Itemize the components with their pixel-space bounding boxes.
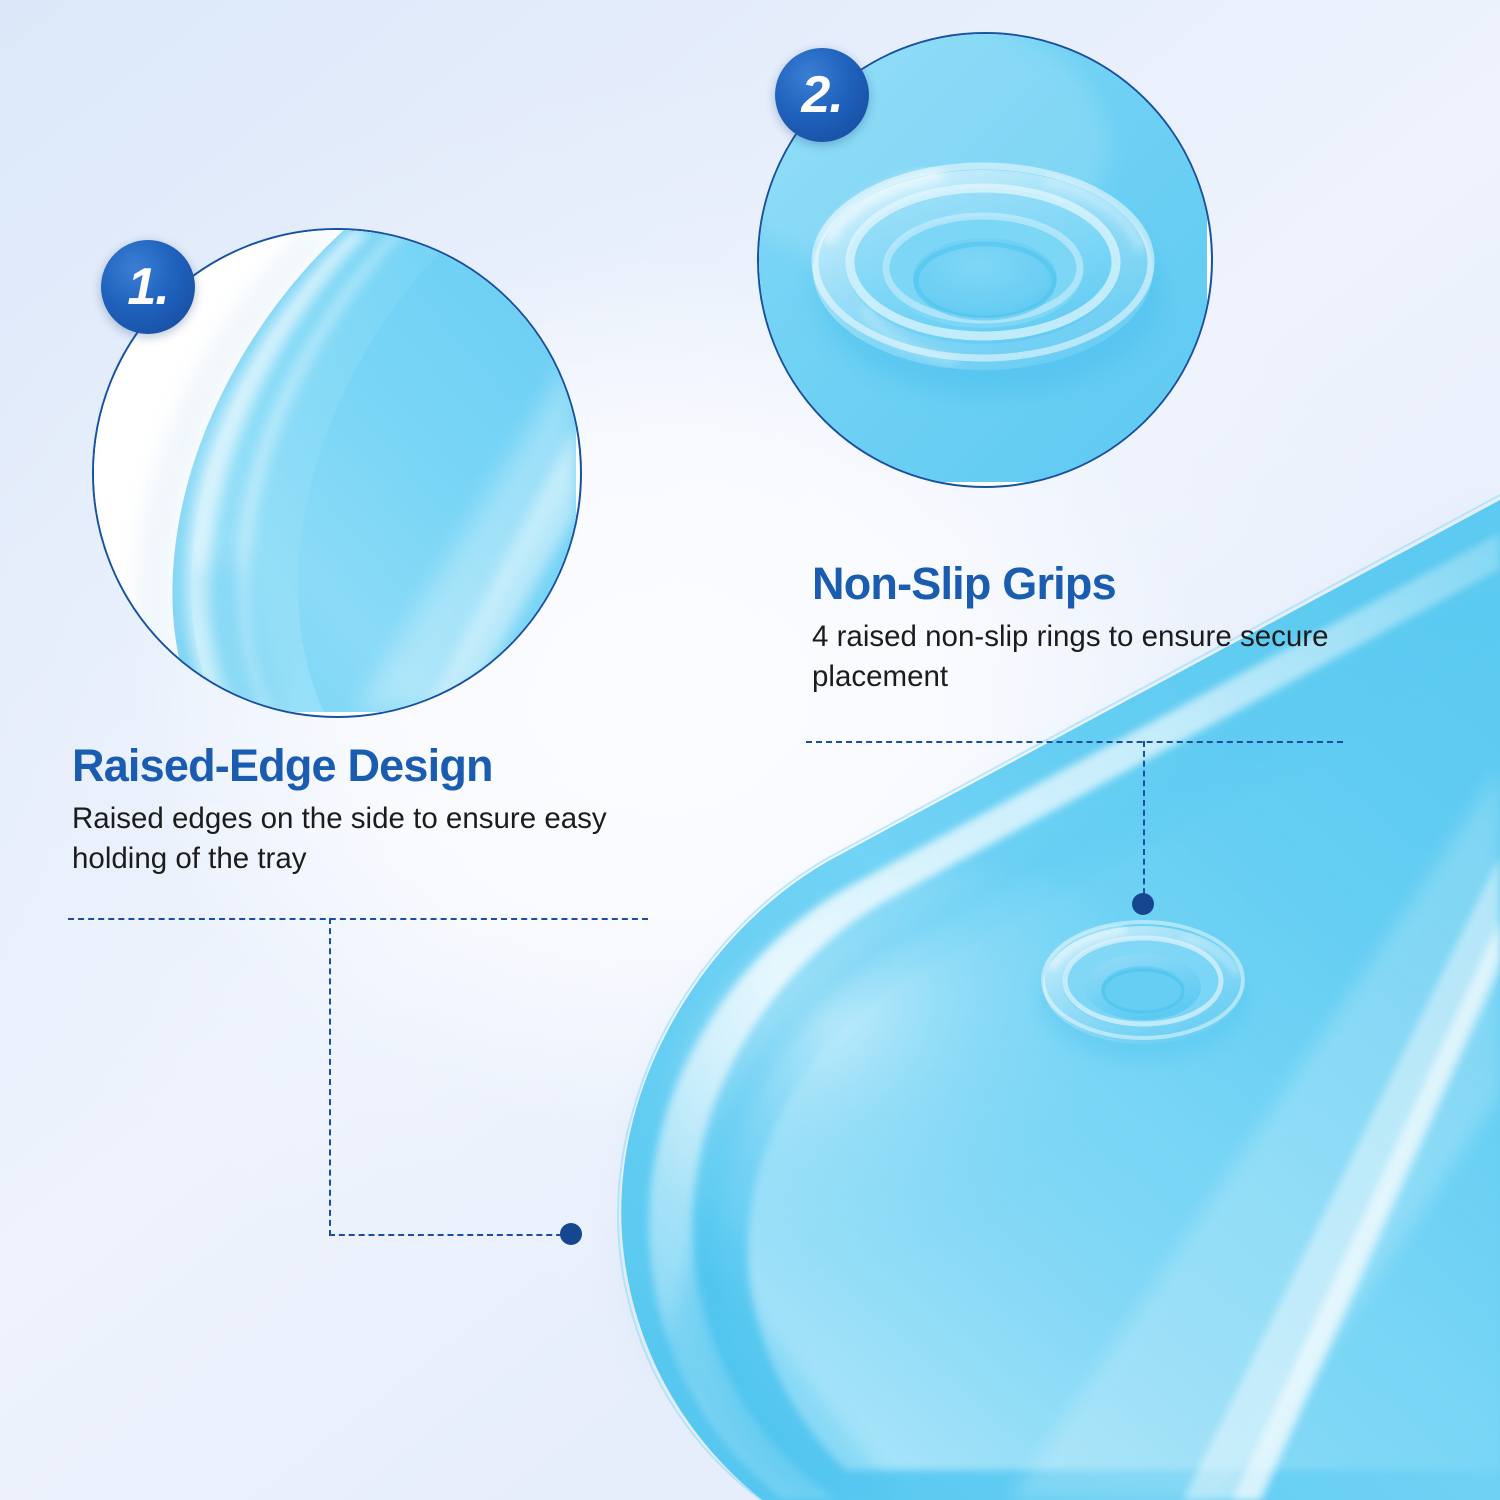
callout-1-description: Raised edges on the side to ensure easy … [72,799,652,880]
infographic-canvas: 1. 2. Raised-Edge Design Raised edges on… [0,0,1500,1500]
callout-non-slip-grips: Non-Slip Grips 4 raised non-slip rings t… [812,560,1392,698]
leader-1-vertical [329,918,331,1236]
callout-raised-edge-design: Raised-Edge Design Raised edges on the s… [72,742,652,880]
leader-1-endpoint-dot [560,1223,582,1245]
callout-2-description: 4 raised non-slip rings to ensure secure… [812,617,1392,698]
badge-number-2: 2. [775,48,869,142]
badge-1-label: 1. [127,257,168,317]
leader-2-vertical [1143,741,1145,904]
leader-1-horizontal-bottom [329,1234,572,1236]
badge-2-label: 2. [801,65,842,125]
non-slip-grip-ring [1039,922,1247,1061]
leader-2-horizontal [806,741,1343,743]
badge-number-1: 1. [101,240,195,334]
leader-2-endpoint-dot [1132,893,1154,915]
callout-2-title: Non-Slip Grips [812,560,1392,608]
leader-1-horizontal-top [68,918,648,920]
callout-1-title: Raised-Edge Design [72,742,652,790]
